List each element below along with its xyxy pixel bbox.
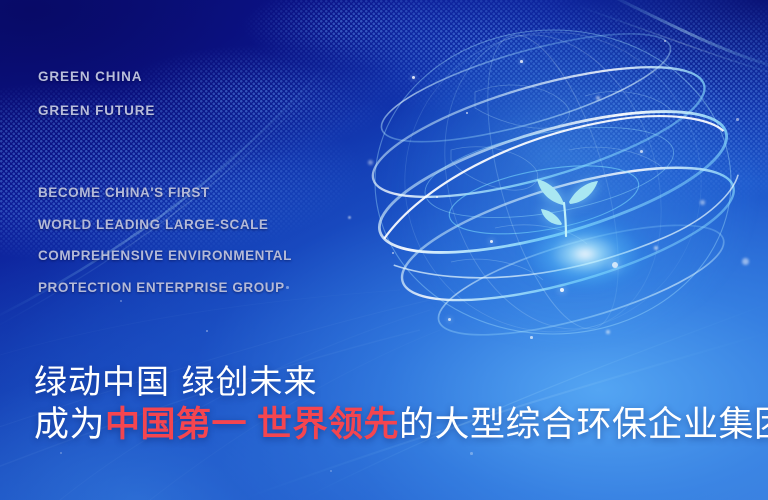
mission-line-1: BECOME CHINA'S FIRST <box>38 186 292 200</box>
mission-line-4: PROTECTION ENTERPRISE GROUP <box>38 281 292 295</box>
mission-line-3: COMPREHENSIVE ENVIRONMENTAL <box>38 249 292 263</box>
mission-line-2: WORLD LEADING LARGE-SCALE <box>38 218 292 232</box>
green-sprout-icon <box>534 168 600 238</box>
headline-accent-world-leading: 世界领先 <box>257 405 399 445</box>
green-china-banner: GREEN CHINA GREEN FUTURE BECOME CHINA'S … <box>0 0 768 500</box>
tagline-block: GREEN CHINA GREEN FUTURE <box>38 70 155 117</box>
tagline-line-1: GREEN CHINA <box>38 70 155 84</box>
headline-line-2: 成为中国第一世界领先的大型综合环保企业集团 <box>34 402 768 448</box>
mission-block: BECOME CHINA'S FIRST WORLD LEADING LARGE… <box>38 186 292 294</box>
headline-suffix: 的大型综合环保企业集团 <box>399 405 768 445</box>
tagline-line-2: GREEN FUTURE <box>38 104 155 118</box>
headline-line-1: 绿动中国 绿创未来 <box>34 362 768 402</box>
headline-accent-china-first: 中国第一 <box>105 405 247 445</box>
headline-block: 绿动中国 绿创未来 成为中国第一世界领先的大型综合环保企业集团 <box>34 362 768 448</box>
headline-prefix: 成为 <box>34 405 105 445</box>
